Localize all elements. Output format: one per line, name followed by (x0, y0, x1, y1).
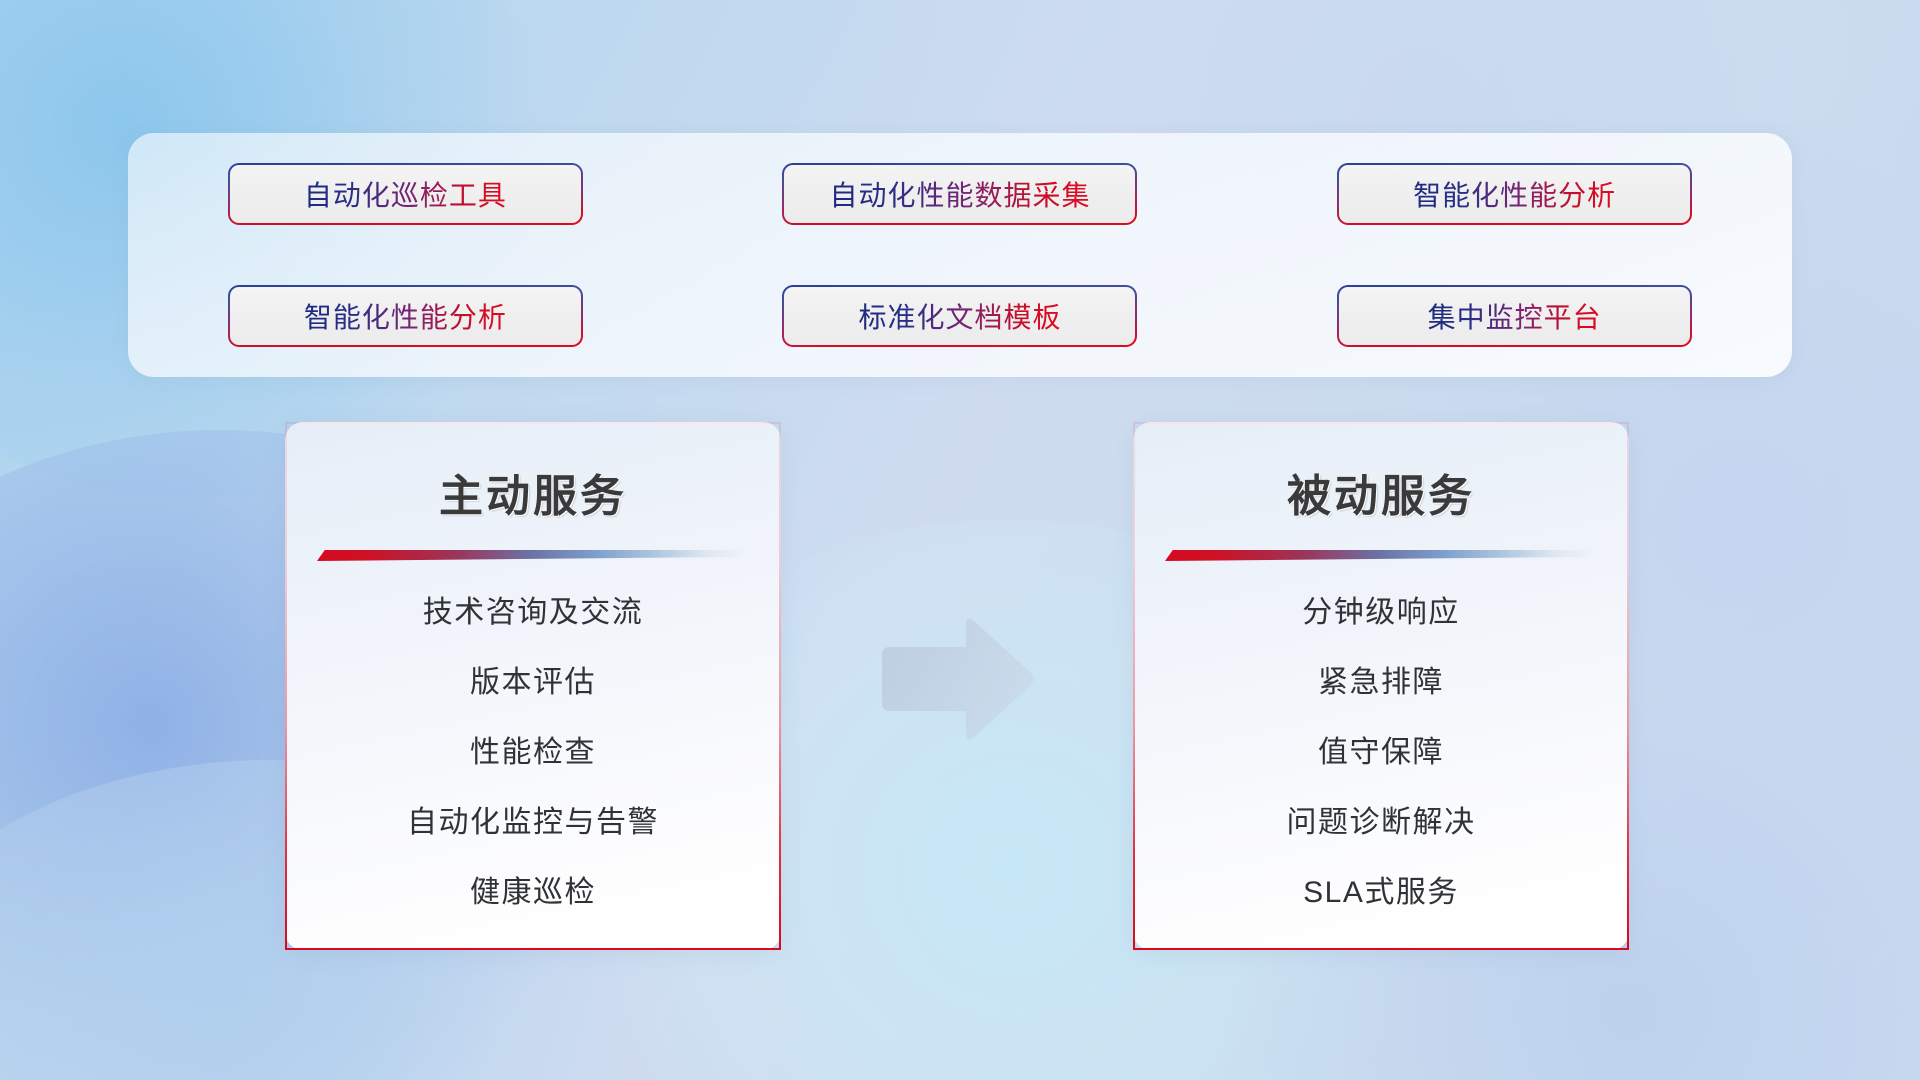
card-divider (1165, 550, 1597, 564)
list-item: 健康巡检 (470, 878, 596, 908)
capability-pill-label: 标准化文档模板 (858, 296, 1061, 336)
service-list: 分钟级响应 紧急排障 值守保障 问题诊断解决 SLA式服务 (1135, 598, 1627, 908)
capability-pill-surface: 自动化性能数据采集 (784, 165, 1135, 223)
capability-pill[interactable]: 智能化性能分析 (228, 285, 583, 347)
capability-pill-label: 自动化性能数据采集 (829, 174, 1090, 214)
capability-pill[interactable]: 自动化性能数据采集 (782, 163, 1137, 225)
capability-pill-surface: 标准化文档模板 (784, 287, 1135, 345)
arrow-right-icon (874, 615, 1036, 743)
capability-pill-label: 智能化性能分析 (1413, 174, 1616, 214)
card-divider-bar (1165, 550, 1597, 561)
capability-pill-label: 自动化巡检工具 (304, 174, 507, 214)
card-title: 主动服务 (287, 460, 779, 524)
capability-pill-surface: 智能化性能分析 (230, 287, 581, 345)
capability-pill-surface: 智能化性能分析 (1339, 165, 1690, 223)
list-item: 分钟级响应 (1302, 598, 1460, 628)
card-divider (317, 550, 749, 564)
slide-canvas: 自动化巡检工具 自动化性能数据采集 智能化性能分析 智能化性能分析 (0, 0, 1920, 1080)
capability-pill-label: 集中监控平台 (1428, 296, 1602, 336)
capability-pill-label: 智能化性能分析 (304, 296, 507, 336)
card-title: 被动服务 (1135, 460, 1627, 524)
list-item: 值守保障 (1318, 738, 1444, 768)
list-item: SLA式服务 (1303, 878, 1459, 908)
capability-pill[interactable]: 自动化巡检工具 (228, 163, 583, 225)
list-item: 紧急排障 (1318, 668, 1444, 698)
list-item: 版本评估 (470, 668, 596, 698)
list-item: 自动化监控与告警 (407, 808, 659, 838)
list-item: 技术咨询及交流 (423, 598, 644, 628)
capability-pill[interactable]: 标准化文档模板 (782, 285, 1137, 347)
service-card-reactive[interactable]: 被动服务 分钟级响应 紧急排障 值守保障 问题诊断解决 SLA式服务 (1133, 422, 1629, 950)
capabilities-grid: 自动化巡检工具 自动化性能数据采集 智能化性能分析 智能化性能分析 (128, 133, 1792, 377)
capability-pill[interactable]: 集中监控平台 (1337, 285, 1692, 347)
capability-pill-surface: 自动化巡检工具 (230, 165, 581, 223)
service-card-proactive[interactable]: 主动服务 技术咨询及交流 版本评估 性能检查 自动化监控与告警 健康巡检 (285, 422, 781, 950)
capability-pill[interactable]: 智能化性能分析 (1337, 163, 1692, 225)
service-list: 技术咨询及交流 版本评估 性能检查 自动化监控与告警 健康巡检 (287, 598, 779, 908)
card-divider-bar (317, 550, 749, 561)
capabilities-panel: 自动化巡检工具 自动化性能数据采集 智能化性能分析 智能化性能分析 (128, 133, 1792, 377)
list-item: 性能检查 (470, 738, 596, 768)
list-item: 问题诊断解决 (1287, 808, 1476, 838)
capability-pill-surface: 集中监控平台 (1339, 287, 1690, 345)
